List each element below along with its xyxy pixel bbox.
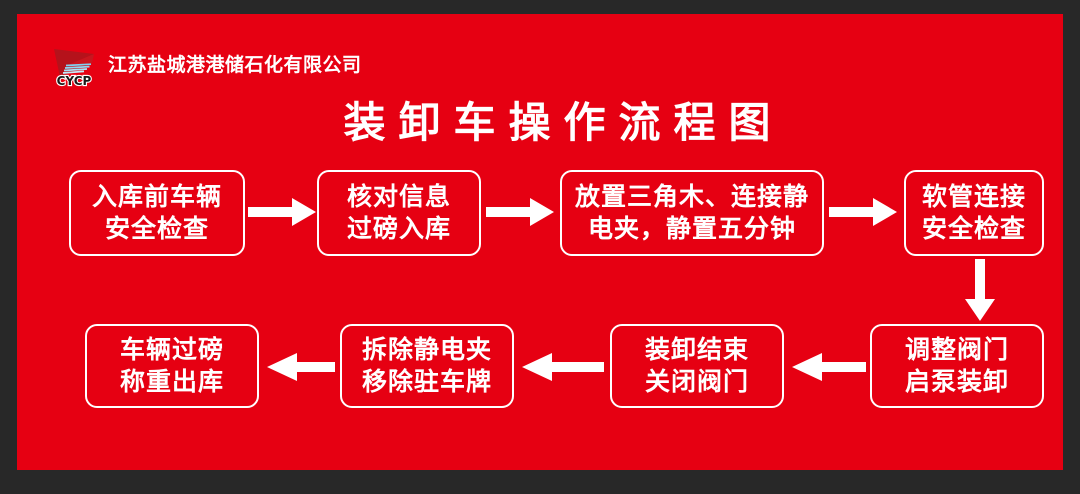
flow-box-6[interactable]: 装卸结束 关闭阀门 [610,324,784,408]
arrow-left-icon-7 [267,351,335,383]
arrow-right-icon-1 [248,196,316,228]
poster-canvas: CYCP 江苏盐城港港储石化有限公司 装卸车操作流程图 入库前车辆 安全检查 核… [17,14,1063,470]
poster-header: CYCP 江苏盐城港港储石化有限公司 [48,42,362,88]
flow-box-3[interactable]: 放置三角木、连接静 电夹，静置五分钟 [560,170,824,256]
svg-text:CYCP: CYCP [57,74,92,87]
flow-box-5[interactable]: 调整阀门 启泵装卸 [870,324,1044,408]
flow-box-2-line-1: 核对信息 [347,181,451,213]
arrow-right-icon-3 [829,196,897,228]
flow-box-3-line-2: 电夹，静置五分钟 [588,213,796,245]
flow-box-1-line-2: 安全检查 [105,213,209,245]
arrow-left-icon-5 [792,351,866,383]
flow-box-4-line-2: 安全检查 [922,213,1026,245]
flow-box-5-line-2: 启泵装卸 [905,366,1009,398]
arrow-down-icon-4 [962,259,998,321]
flow-box-7[interactable]: 拆除静电夹 移除驻车牌 [340,324,514,408]
arrow-left-icon-6 [522,351,604,383]
flow-box-1[interactable]: 入库前车辆 安全检查 [69,170,245,256]
flow-box-8-line-2: 称重出库 [120,366,224,398]
flow-box-7-line-2: 移除驻车牌 [362,366,492,398]
flow-box-7-line-1: 拆除静电夹 [362,334,492,366]
flow-box-8-line-1: 车辆过磅 [120,334,224,366]
cycp-arrow-logo-icon: CYCP [48,43,100,87]
flow-box-2-line-2: 过磅入库 [347,213,451,245]
flow-box-5-line-1: 调整阀门 [905,334,1009,366]
arrow-right-icon-2 [486,196,554,228]
flow-box-8[interactable]: 车辆过磅 称重出库 [85,324,259,408]
page-title: 装卸车操作流程图 [17,100,1080,146]
flow-box-6-line-1: 装卸结束 [645,334,749,366]
flow-box-3-line-1: 放置三角木、连接静 [575,181,809,213]
company-name: 江苏盐城港港储石化有限公司 [108,56,362,75]
flow-box-6-line-2: 关闭阀门 [645,366,749,398]
flow-box-4[interactable]: 软管连接 安全检查 [904,170,1044,256]
flow-box-4-line-1: 软管连接 [922,181,1026,213]
flow-box-2[interactable]: 核对信息 过磅入库 [317,170,481,256]
flow-box-1-line-1: 入库前车辆 [92,181,222,213]
flowchart-poster: CYCP 江苏盐城港港储石化有限公司 装卸车操作流程图 入库前车辆 安全检查 核… [0,0,1080,494]
